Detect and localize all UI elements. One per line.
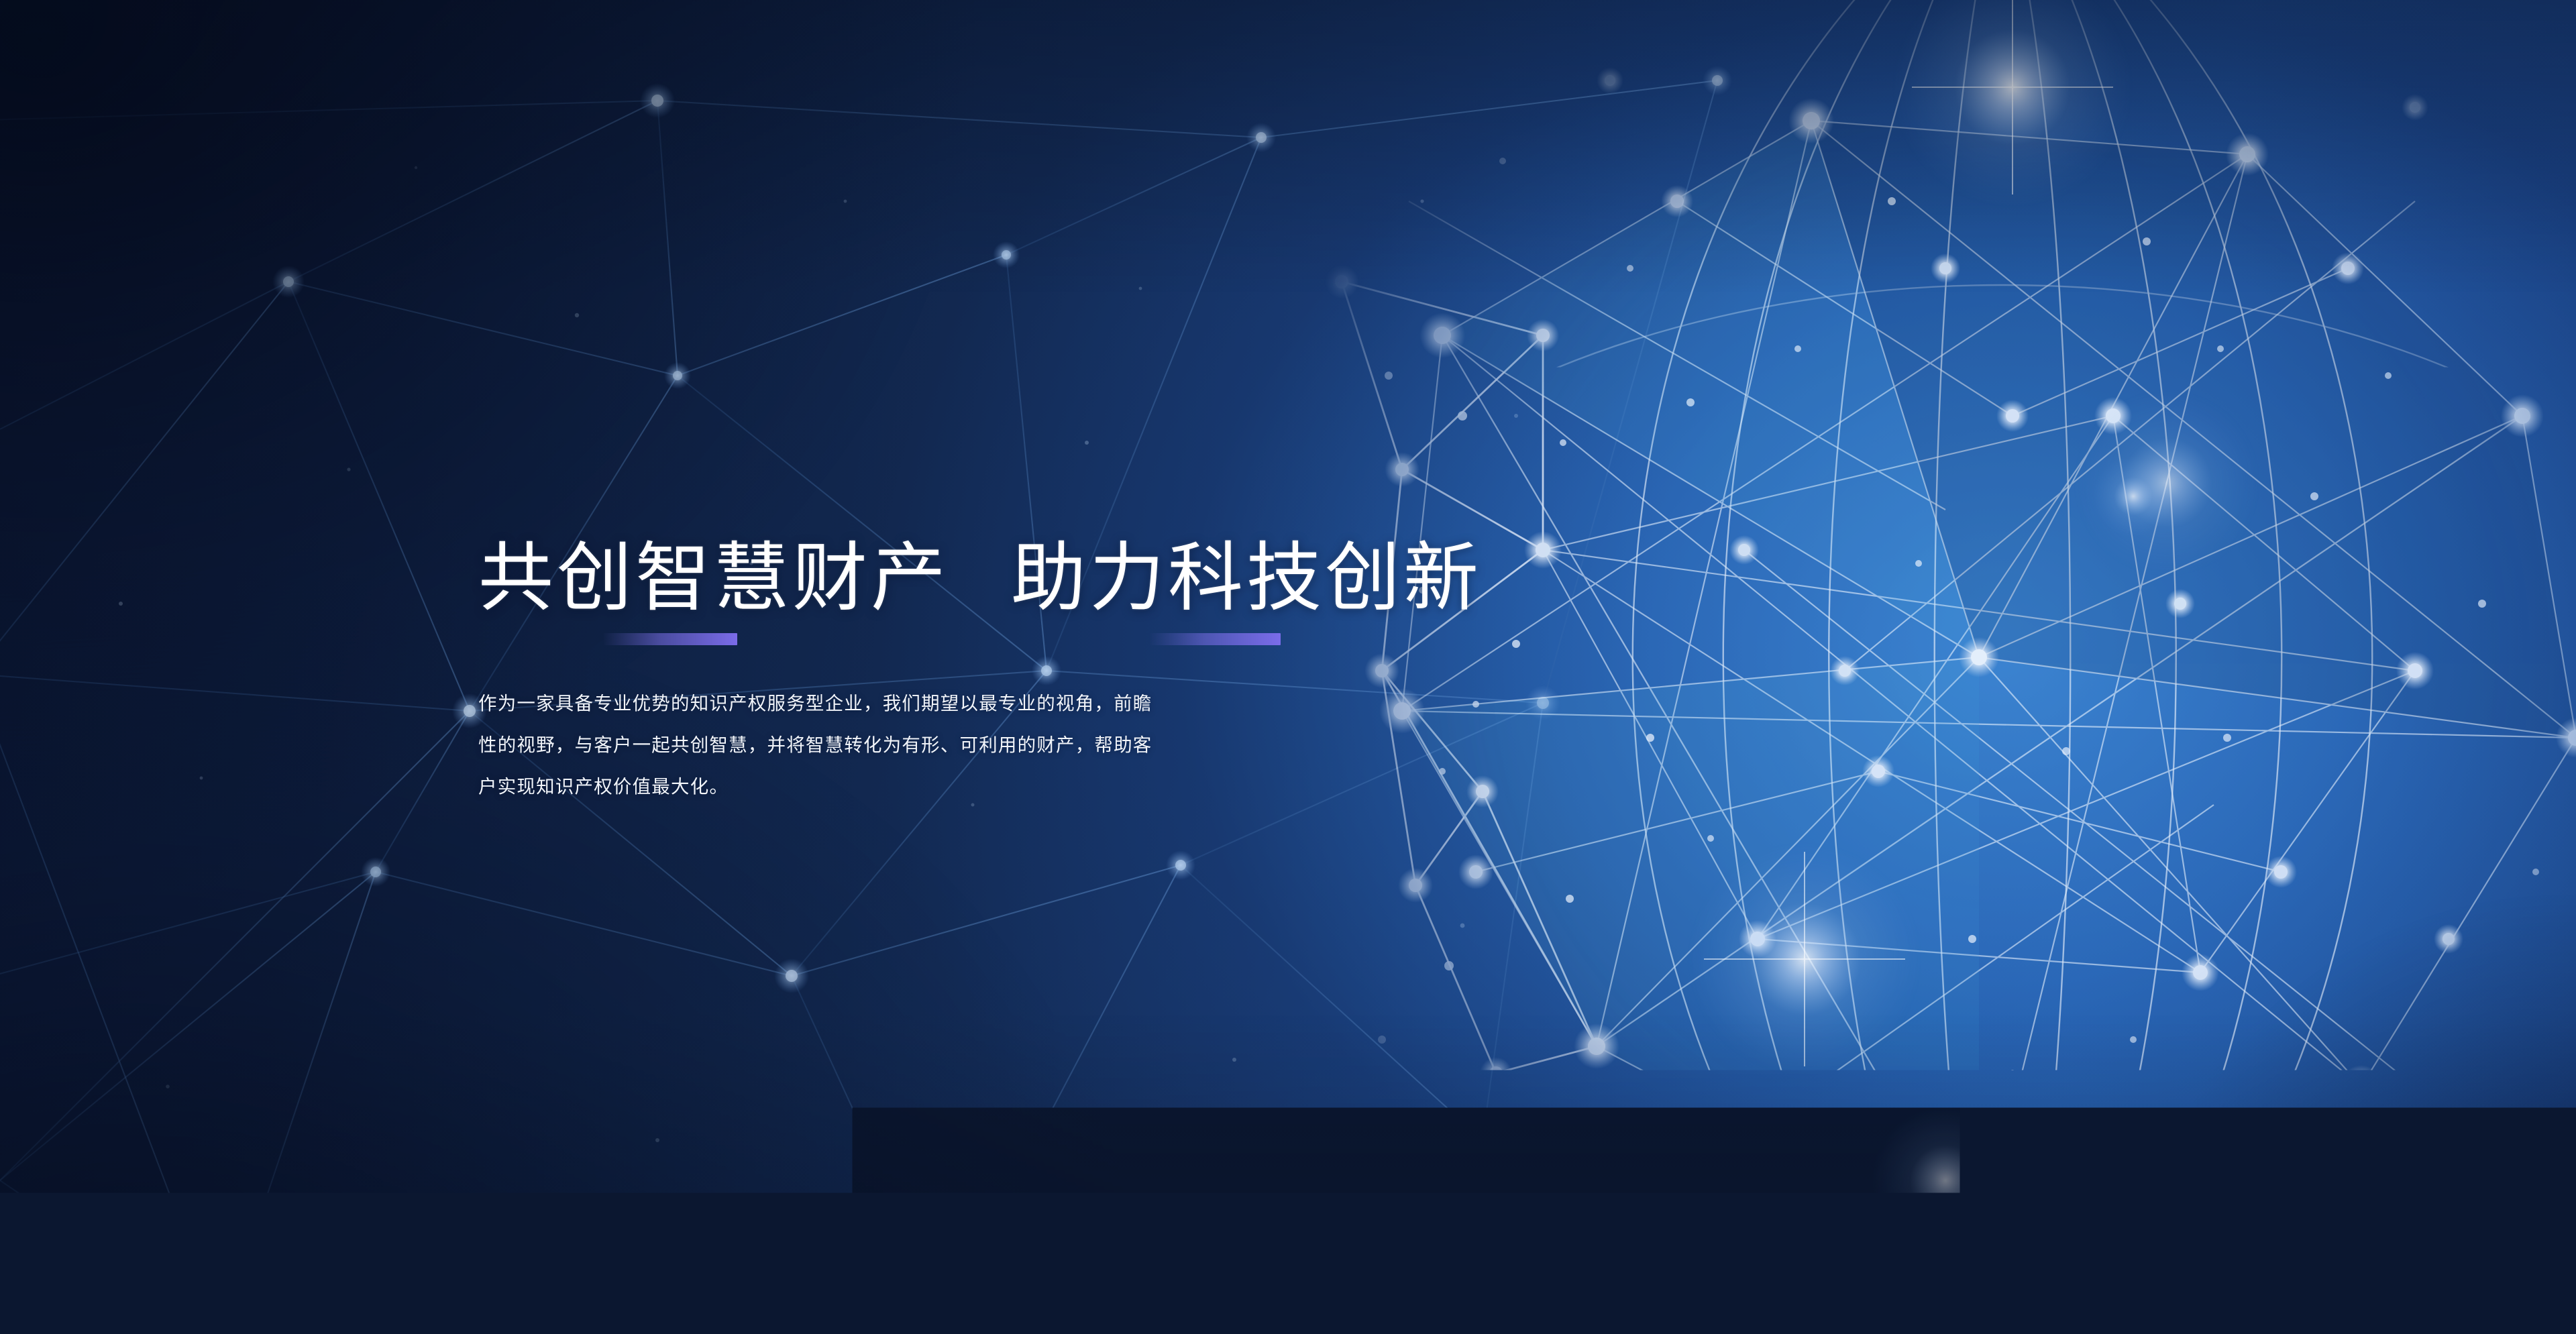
globe-node — [1324, 67, 2576, 1269]
globe-chord-lines — [1402, 121, 2576, 1247]
hero-description: 作为一家具备专业优势的知识产权服务型企业，我们期望以最专业的视角，前瞻 性的视野… — [478, 683, 1424, 808]
title-underline-accent-1 — [603, 633, 737, 645]
light-flare — [1687, 0, 2261, 1254]
description-line-2: 性的视野，与客户一起共创智慧，并将智慧转化为有形、可利用的财产，帮助客 — [478, 724, 1424, 766]
title-phrase-1-text: 共创智慧财产 — [478, 541, 949, 616]
title-phrase-1: 共创智慧财产 — [478, 541, 949, 616]
title-underline-accent-2 — [1149, 633, 1281, 645]
page-title: 共创智慧财产 助力科技创新 — [478, 541, 1485, 616]
hero-content: 共创智慧财产 助力科技创新 作为一家具备专业优势的知识产权服务型企业，我们期望以… — [478, 541, 1485, 808]
description-line-3: 户实现知识产权价值最大化。 — [478, 766, 1424, 808]
globe-speckle — [1378, 158, 2539, 1157]
description-line-1: 作为一家具备专业优势的知识产权服务型企业，我们期望以最专业的视角，前瞻 — [478, 683, 1424, 724]
title-phrase-2-text: 助力科技创新 — [1011, 541, 1482, 616]
title-phrase-2: 助力科技创新 — [1011, 541, 1482, 616]
hero-banner: 共创智慧财产 助力科技创新 作为一家具备专业优势的知识产权服务型企业，我们期望以… — [0, 0, 2576, 1334]
